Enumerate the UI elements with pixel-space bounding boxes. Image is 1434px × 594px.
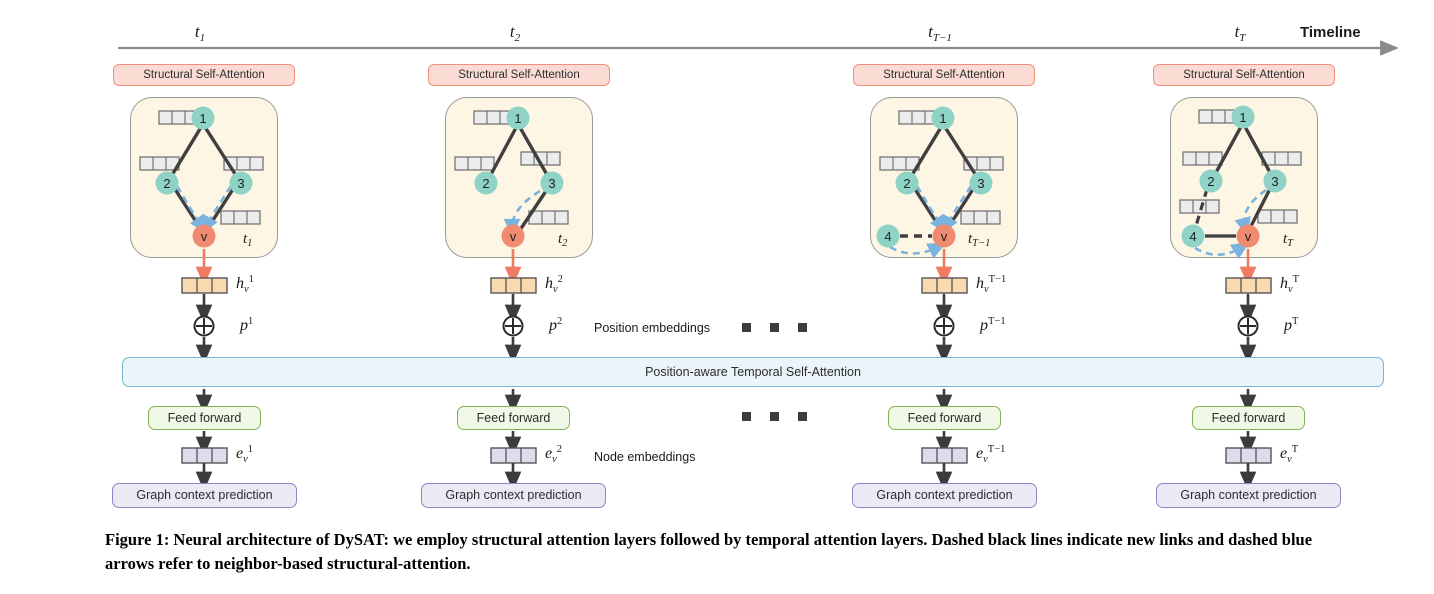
svg-text:2: 2 — [482, 176, 489, 191]
feature-box-node2-tT-1 — [880, 157, 919, 170]
graph-context-prediction-box-tT[interactable]: Graph context prediction — [1156, 483, 1341, 508]
ellipsis-dot-upper-3 — [798, 323, 807, 332]
add-operator-t1 — [195, 317, 214, 336]
feature-box-node2-t2 — [455, 157, 494, 170]
feed-forward-box-t2[interactable]: Feed forward — [457, 406, 570, 430]
graph-context-prediction-box-t1[interactable]: Graph context prediction — [112, 483, 297, 508]
edge-1-2-tT-1 — [909, 124, 943, 180]
svg-text:v: v — [1245, 229, 1252, 244]
ellipsis-dot-lower-3 — [798, 412, 807, 421]
feed-forward-box-tT-1[interactable]: Feed forward — [888, 406, 1001, 430]
feature-box-node3-tT — [1262, 152, 1301, 165]
ellipsis-dot-upper-2 — [770, 323, 779, 332]
svg-text:2: 2 — [903, 176, 910, 191]
feature-box-nodev-tT-1 — [961, 211, 1000, 224]
label-e-tT-1: evT−1 — [976, 444, 1005, 465]
temporal-self-attention-bar[interactable]: Position-aware Temporal Self-Attention — [122, 357, 1384, 387]
svg-text:v: v — [941, 229, 948, 244]
graph-context-prediction-box-tT-1[interactable]: Graph context prediction — [852, 483, 1037, 508]
ellipsis-dot-lower-1 — [742, 412, 751, 421]
e-vector-t1 — [182, 448, 227, 463]
label-h-t2: hv2 — [545, 274, 563, 295]
add-operator-t2 — [504, 317, 523, 336]
graph-tT-1: 1 2 3 4 v — [877, 107, 1004, 278]
svg-text:2: 2 — [163, 176, 170, 191]
h-vector-tT — [1226, 278, 1271, 293]
attention-arrow-4-v-tT-1 — [890, 247, 938, 254]
graph-t2: 1 2 3 v — [455, 107, 568, 278]
label-h-t1: hv1 — [236, 274, 254, 295]
e-vector-t2 — [491, 448, 536, 463]
svg-text:1: 1 — [514, 111, 521, 126]
feature-box-node2-t1 — [140, 157, 179, 170]
figure-root: t1 t2 tT−1 tT Timeline Structural Self-A… — [0, 0, 1434, 594]
label-p-t2: p2 — [549, 316, 562, 335]
ellipsis-dot-lower-2 — [770, 412, 779, 421]
ellipsis-dot-upper-1 — [742, 323, 751, 332]
attention-arrow-2-v-tT-1 — [917, 186, 942, 226]
svg-text:1: 1 — [1239, 110, 1246, 125]
feature-box-node2-tT — [1183, 152, 1222, 165]
feature-box-nodev-t1 — [221, 211, 260, 224]
svg-text:v: v — [201, 229, 208, 244]
svg-text:3: 3 — [977, 176, 984, 191]
feature-box-nodev-t2 — [529, 211, 568, 224]
edge-1-3-tT-1 — [943, 124, 979, 180]
label-h-tT: hvT — [1280, 274, 1299, 295]
attention-arrow-4-v-tT — [1195, 247, 1242, 255]
label-p-t1: p1 — [240, 316, 253, 335]
label-p-tT-1: pT−1 — [980, 316, 1006, 335]
svg-text:3: 3 — [548, 176, 555, 191]
svg-text:1: 1 — [939, 111, 946, 126]
graph-tT: 1 2 3 4 v — [1180, 106, 1301, 278]
add-operator-tT-1 — [935, 317, 954, 336]
attention-arrow-2-v-t1 — [177, 186, 202, 226]
svg-text:2: 2 — [1207, 174, 1214, 189]
edge-1-3-tT — [1243, 123, 1273, 178]
e-vector-tT-1 — [922, 448, 967, 463]
node-embeddings-label: Node embeddings — [594, 450, 695, 464]
svg-text:4: 4 — [884, 229, 891, 244]
feed-forward-box-t1[interactable]: Feed forward — [148, 406, 261, 430]
edge-1-2-t1 — [169, 124, 203, 180]
svg-text:1: 1 — [199, 111, 206, 126]
label-e-t1: ev1 — [236, 444, 253, 465]
edge-1-3-t1 — [203, 124, 239, 180]
label-e-tT: evT — [1280, 444, 1298, 465]
label-p-tT: pT — [1284, 316, 1298, 335]
e-vector-tT — [1226, 448, 1271, 463]
svg-text:4: 4 — [1189, 229, 1196, 244]
feature-box-nodev-tT — [1258, 210, 1297, 223]
add-operator-tT — [1239, 317, 1258, 336]
graph-t1: 1 2 3 v — [140, 107, 263, 278]
h-vector-t1 — [182, 278, 227, 293]
graph-context-prediction-box-t2[interactable]: Graph context prediction — [421, 483, 606, 508]
edge-1-2-tT — [1213, 123, 1243, 178]
position-embeddings-label: Position embeddings — [594, 321, 710, 335]
feed-forward-box-tT[interactable]: Feed forward — [1192, 406, 1305, 430]
h-vector-t2 — [491, 278, 536, 293]
figure-caption: Figure 1: Neural architecture of DySAT: … — [105, 528, 1355, 576]
svg-text:v: v — [510, 229, 517, 244]
label-e-t2: ev2 — [545, 444, 562, 465]
svg-text:3: 3 — [1271, 174, 1278, 189]
edge-1-2-t2 — [488, 124, 518, 180]
h-vector-tT-1 — [922, 278, 967, 293]
svg-text:3: 3 — [237, 176, 244, 191]
label-h-tT-1: hvT−1 — [976, 274, 1006, 295]
feature-box-node4-tT — [1180, 200, 1219, 213]
